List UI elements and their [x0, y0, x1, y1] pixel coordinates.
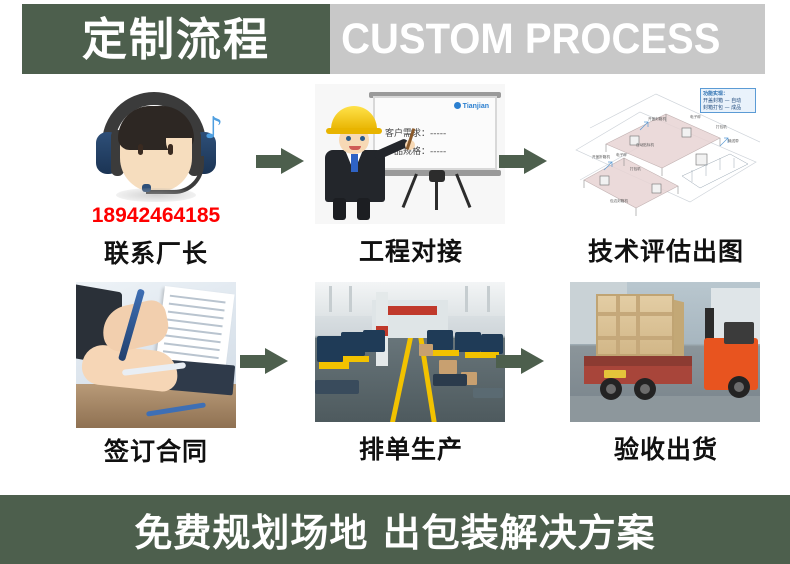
- svg-text:电子秤: 电子秤: [616, 152, 627, 157]
- footer-banner: 免费规划场地 出包装解决方案: [0, 495, 790, 564]
- step-5-label: 排单生产: [303, 430, 519, 466]
- header-title-chinese-block: 定制流程: [22, 4, 330, 74]
- header-title-english-block: CUSTOM PROCESS: [330, 4, 765, 74]
- contact-phone-number: 18942464185: [48, 204, 264, 228]
- process-step-1: ♪ 18942464185 联系厂长: [48, 84, 281, 280]
- process-step-2: Tianjian 客户需求：----- 产品规格：-----: [303, 84, 536, 280]
- arrow-right-icon-3: [240, 348, 288, 374]
- svg-text:打包机: 打包机: [716, 124, 727, 129]
- custom-process-infographic: 定制流程 CUSTOM PROCESS: [0, 0, 790, 564]
- drawing-legend: 功能实现： 开盖封箱 — 自动 封箱打包 — 成品: [700, 88, 756, 113]
- process-steps-grid: ♪ 18942464185 联系厂长 Tianjian 客户需求：----- 产…: [0, 84, 790, 489]
- contract-signing-photo: [76, 282, 236, 428]
- legend-row-2: 封箱打包 — 成品: [703, 104, 753, 111]
- svg-text:开盖封箱机: 开盖封箱机: [648, 116, 666, 121]
- svg-text:电子秤: 电子秤: [690, 114, 701, 119]
- process-row-bottom: 签订合同: [0, 282, 790, 478]
- legend-title: 功能实现：: [703, 90, 753, 97]
- factory-production-photo: [315, 282, 505, 422]
- arrow-right-icon-2: [499, 148, 547, 174]
- board-line-1: 客户需求：-----: [385, 126, 446, 139]
- svg-text:开盖折箱机: 开盖折箱机: [592, 154, 610, 159]
- engineer-presentation-icon: Tianjian 客户需求：----- 产品规格：-----: [315, 84, 505, 224]
- arrow-right-icon-1: [256, 148, 304, 174]
- svg-text:包边封箱机: 包边封箱机: [610, 198, 628, 203]
- svg-text:自动贴标机: 自动贴标机: [636, 142, 654, 147]
- hard-hat-icon: [331, 106, 377, 130]
- process-step-5: 排单生产: [303, 282, 536, 478]
- header-title-english: CUSTOM PROCESS: [330, 18, 720, 61]
- svg-text:打包机: 打包机: [630, 166, 641, 171]
- legend-row-1: 开盖封箱 — 自动: [703, 97, 753, 104]
- arrow-right-icon-4: [496, 348, 544, 374]
- header-banner: 定制流程 CUSTOM PROCESS: [0, 0, 790, 78]
- step-2-label: 工程对接: [303, 232, 519, 268]
- header-title-chinese: 定制流程: [82, 17, 270, 62]
- process-row-top: ♪ 18942464185 联系厂长 Tianjian 客户需求：----- 产…: [0, 84, 790, 280]
- technical-layout-drawing-icon: 开盖封箱机 电子秤 打包机 开盖折箱机 电子秤 打包机 自动贴标机 包边封箱机 …: [570, 84, 760, 224]
- music-note-icon: ♪: [204, 114, 223, 144]
- process-step-4: 签订合同: [48, 282, 281, 478]
- process-step-3: 开盖封箱机 电子秤 打包机 开盖折箱机 电子秤 打包机 自动贴标机 包边封箱机 …: [558, 84, 790, 280]
- footer-slogan: 免费规划场地 出包装解决方案: [134, 502, 655, 557]
- step-3-label: 技术评估出图: [558, 232, 774, 268]
- step-1-label: 联系厂长: [48, 234, 264, 270]
- step-4-label: 签订合同: [48, 432, 264, 468]
- svg-text:输送带: 输送带: [728, 138, 739, 143]
- shipping-crate-photo: [570, 282, 760, 422]
- step-6-label: 验收出货: [558, 430, 774, 466]
- process-step-6: 验收出货: [558, 282, 790, 478]
- board-brand-logo: Tianjian: [454, 102, 489, 110]
